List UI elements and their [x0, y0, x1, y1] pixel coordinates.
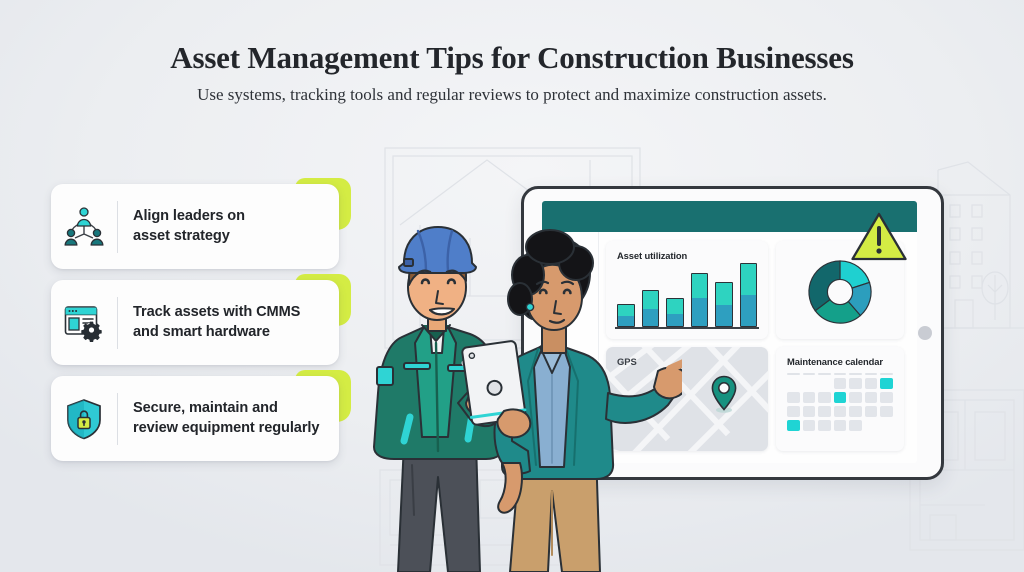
team-network-icon: [51, 207, 117, 247]
tip-card-3[interactable]: Secure, maintain and review equipment re…: [51, 376, 339, 461]
tip-card-2-line1: Track assets with CMMS: [133, 303, 300, 322]
tip-card-1-line1: Align leaders on: [133, 207, 245, 226]
tip-card-1-text: Align leaders on asset strategy: [118, 207, 253, 246]
dashboard-gear-icon: [51, 303, 117, 343]
donut-chart: [803, 255, 877, 329]
calendar-row-4: [787, 420, 893, 431]
maintenance-calendar-title: Maintenance calendar: [787, 356, 883, 367]
calendar-grid: [787, 373, 893, 434]
bar-4: [691, 273, 709, 328]
tip-card-3-text: Secure, maintain and review equipment re…: [118, 399, 327, 438]
tip-card-1-wrapper: Align leaders on asset strategy: [51, 184, 351, 269]
bar-6: [740, 263, 758, 327]
tips-card-list: Align leaders on asset strategy: [51, 184, 351, 472]
tip-card-2-wrapper: Track assets with CMMS and smart hardwar…: [51, 280, 351, 365]
tip-card-1[interactable]: Align leaders on asset strategy: [51, 184, 339, 269]
tip-card-1-line2: asset strategy: [133, 227, 245, 246]
calendar-row-3: [787, 406, 893, 417]
bar-5: [715, 282, 733, 327]
calendar-row-1: [787, 378, 893, 389]
maintenance-calendar-panel[interactable]: Maintenance calendar: [776, 347, 904, 451]
page-subtitle: Use systems, tracking tools and regular …: [0, 85, 1024, 105]
tablet-home-button[interactable]: [918, 326, 932, 340]
tip-card-3-line1: Secure, maintain and: [133, 399, 319, 418]
tip-card-3-line2: review equipment regularly: [133, 419, 319, 438]
page-title: Asset Management Tips for Construction B…: [0, 40, 1024, 76]
calendar-weekday-row: [787, 373, 893, 375]
tip-card-2[interactable]: Track assets with CMMS and smart hardwar…: [51, 280, 339, 365]
map-pin-icon: [710, 375, 738, 413]
people-illustration: [352, 215, 682, 572]
tip-card-2-line2: and smart hardware: [133, 323, 300, 342]
shield-lock-icon: [51, 398, 117, 440]
warning-triangle-icon[interactable]: [850, 211, 908, 263]
calendar-row-2: [787, 392, 893, 403]
infographic-canvas: Asset Management Tips for Construction B…: [0, 0, 1024, 572]
tip-card-3-wrapper: Secure, maintain and review equipment re…: [51, 376, 351, 461]
tip-card-2-text: Track assets with CMMS and smart hardwar…: [118, 303, 308, 342]
